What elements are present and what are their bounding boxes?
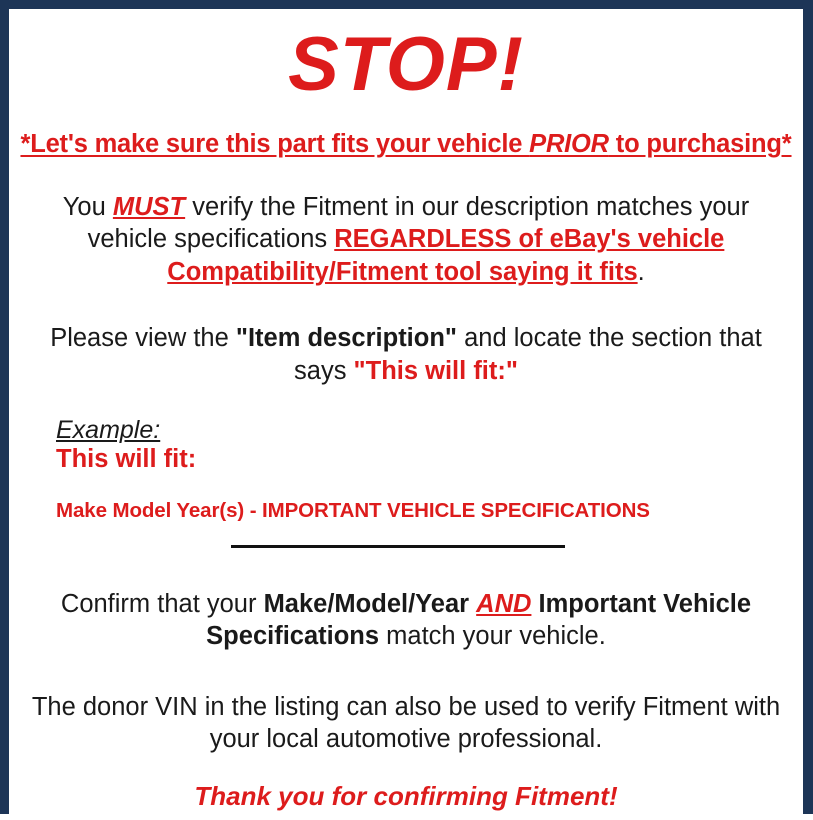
confirm-paragraph-segment-4: match your vehicle. <box>379 622 606 650</box>
horizontal-divider <box>231 545 565 548</box>
example-this-will-fit-heading: This will fit: <box>56 445 803 473</box>
confirm-paragraph-segment-1: Confirm that your <box>61 590 264 618</box>
this-will-fit-quote-emphasis: "This will fit:" <box>354 357 518 385</box>
subtitle-trail-text: to purchasing* <box>609 130 792 158</box>
item-description-paragraph: Please view the "Item description" and l… <box>9 322 803 387</box>
confirm-paragraph-space-2 <box>531 590 538 618</box>
item-description-emphasis: "Item description" <box>236 324 457 352</box>
subtitle-banner: *Let's make sure this part fits your veh… <box>9 130 803 158</box>
example-label: Example: <box>56 417 160 443</box>
donor-vin-paragraph: The donor VIN in the listing can also be… <box>9 691 803 756</box>
view-paragraph-segment-1: Please view the <box>50 324 236 352</box>
closing-thank-you-line: Thank you for confirming Fitment! <box>9 782 803 811</box>
example-spec-line: Make Model Year(s) - IMPORTANT VEHICLE S… <box>56 500 803 523</box>
confirm-paragraph: Confirm that your Make/Model/Year AND Im… <box>9 588 803 653</box>
subtitle-prior-emphasis: PRIOR <box>529 130 609 158</box>
verify-paragraph-segment-3: . <box>638 258 645 286</box>
fitment-notice-body: STOP! *Let's make sure this part fits yo… <box>9 27 803 820</box>
verify-fitment-paragraph: You MUST verify the Fitment in our descr… <box>9 191 803 288</box>
subtitle-lead-text: *Let's make sure this part fits your veh… <box>20 130 529 158</box>
fitment-notice-card: STOP! *Let's make sure this part fits yo… <box>0 0 813 814</box>
page-title: STOP! <box>9 27 803 103</box>
divider-container <box>9 545 803 548</box>
must-emphasis: MUST <box>113 193 185 221</box>
example-section: Example: This will fit: Make Model Year(… <box>9 417 803 523</box>
and-emphasis: AND <box>476 590 531 618</box>
example-label-row: Example: <box>56 417 803 443</box>
verify-paragraph-segment-1: You <box>63 193 113 221</box>
make-model-year-emphasis: Make/Model/Year <box>264 590 470 618</box>
